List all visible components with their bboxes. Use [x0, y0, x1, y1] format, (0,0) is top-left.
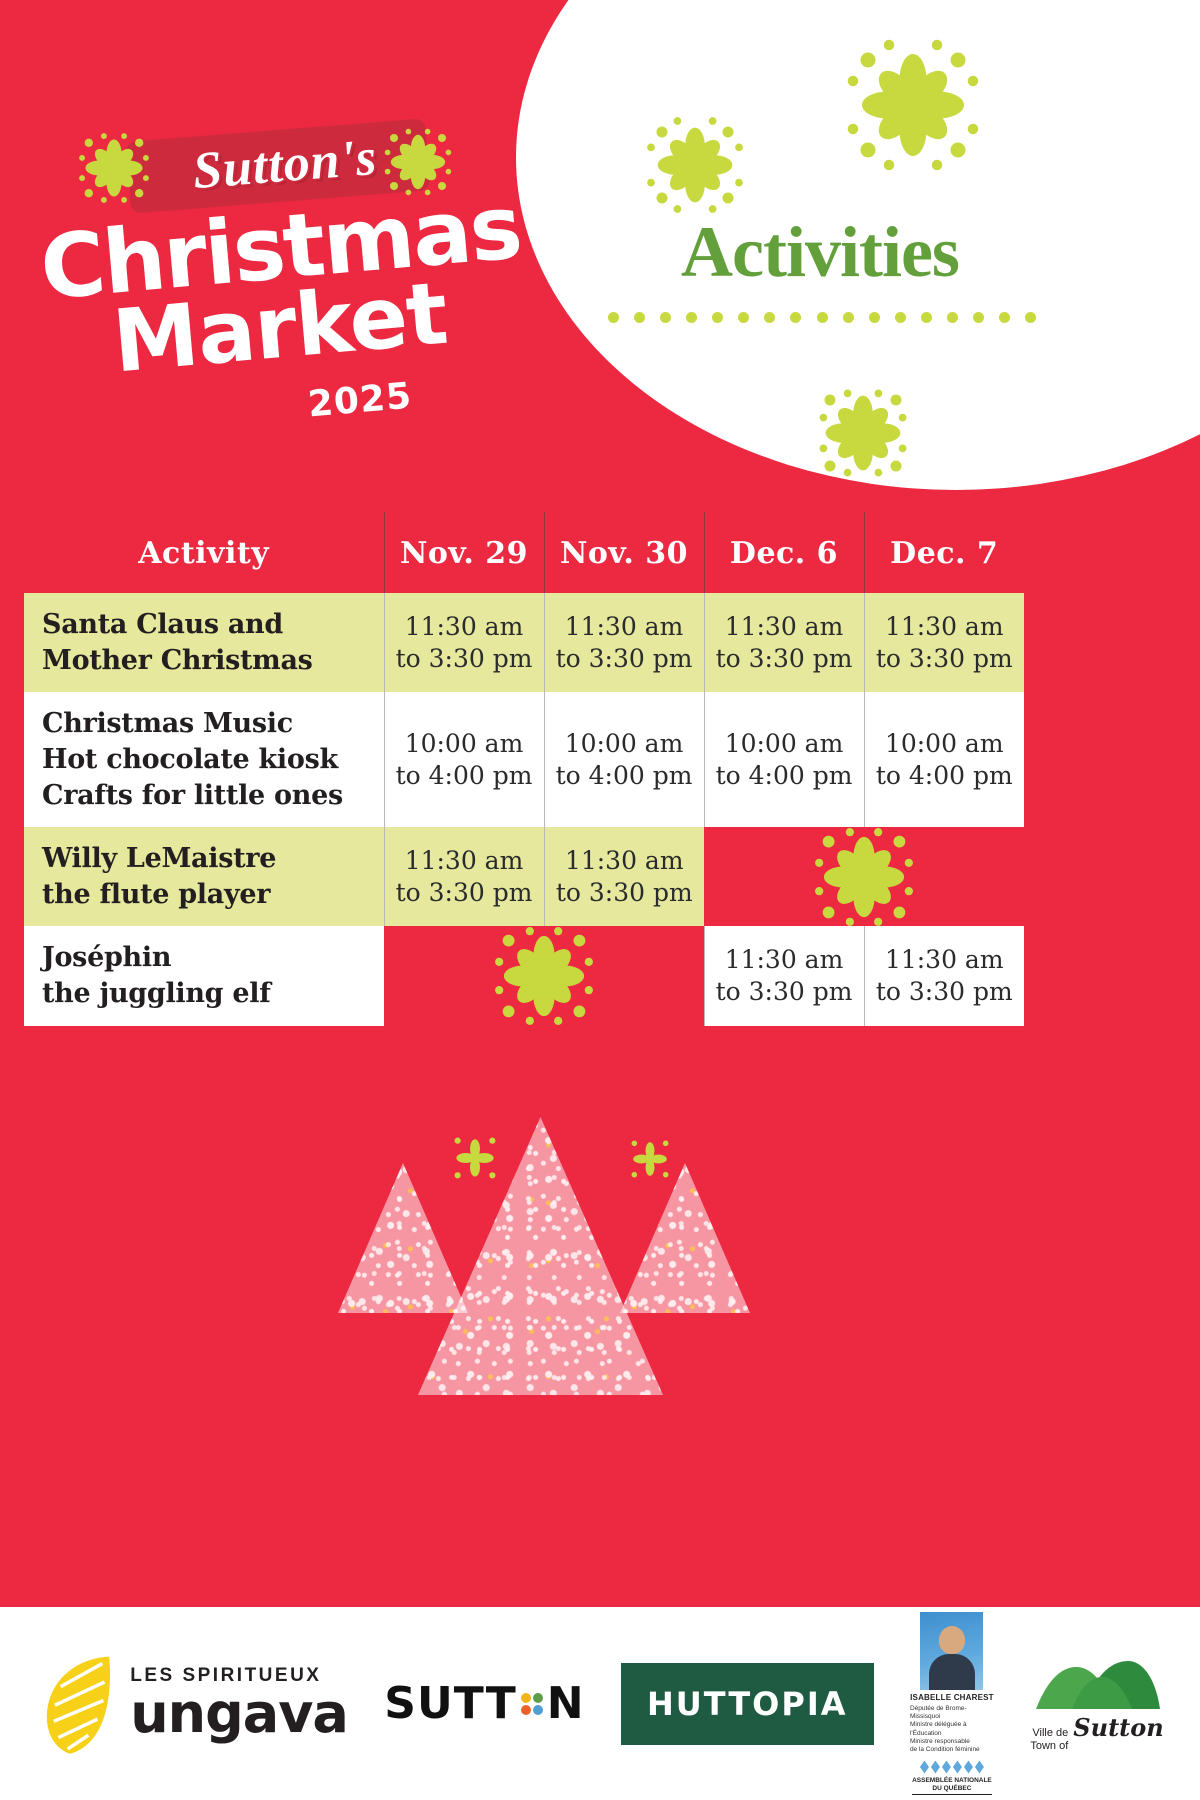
sutton-wordmark-tail: N	[547, 1678, 585, 1729]
schedule-cell: 11:30 am to 3:30 pm	[704, 593, 864, 692]
schedule-cell-empty	[384, 926, 704, 1025]
divider-dot	[608, 312, 619, 323]
ville-line1: Ville de	[1032, 1727, 1068, 1739]
divider-dot	[790, 312, 801, 323]
charest-name: ISABELLE CHAREST	[910, 1693, 994, 1702]
schedule-cell: 10:00 am to 4:00 pm	[544, 692, 704, 827]
assemblee-nationale-label: ASSEMBLÉE NATIONALE DU QUÉBEC	[912, 1777, 992, 1796]
time-start: 11:30 am	[873, 944, 1017, 976]
ungava-leaf-icon	[36, 1652, 120, 1756]
sponsor-logo-isabelle-charest[interactable]: ISABELLE CHAREST Députée de Brome-Missis…	[910, 1612, 994, 1796]
time-start: 10:00 am	[393, 728, 536, 760]
sponsor-logo-sutton[interactable]: SUTT N	[384, 1678, 584, 1729]
schedule-cell: 11:30 am to 3:30 pm	[544, 593, 704, 692]
snowflake-christmas-tree-icon	[418, 1117, 663, 1395]
divider-dot	[686, 312, 697, 323]
time-end: to 3:30 pm	[873, 643, 1017, 675]
time-start: 10:00 am	[553, 728, 696, 760]
schedule-cell: 11:30 am to 3:30 pm	[864, 926, 1024, 1025]
table-row: Christmas Music Hot chocolate kiosk Craf…	[24, 692, 1024, 827]
divider-dot	[764, 312, 775, 323]
time-start: 11:30 am	[713, 611, 856, 643]
charest-role-line: Ministre déléguée à l'Éducation	[910, 1721, 994, 1738]
time-end: to 4:00 pm	[553, 760, 696, 792]
ville-line2: Town of	[1030, 1740, 1068, 1752]
time-end: to 4:00 pm	[393, 760, 536, 792]
charest-roles: Députée de Brome-Missisquoi Ministre dél…	[910, 1705, 994, 1755]
divider-dot	[973, 312, 984, 323]
activity-line: Santa Claus and	[42, 607, 376, 643]
time-end: to 3:30 pm	[713, 976, 856, 1008]
charest-role-line: Ministre responsable	[910, 1738, 994, 1746]
sutton-hills-icon	[1032, 1655, 1162, 1711]
green-flower-burst-icon	[805, 818, 923, 936]
column-header-dec-6: Dec. 6	[704, 512, 864, 593]
activity-line: the juggling elf	[42, 976, 376, 1012]
sutton-o-quadrant-icon	[521, 1693, 543, 1715]
time-end: to 3:30 pm	[393, 643, 536, 675]
sponsor-logo-huttopia[interactable]: HUTTOPIA	[621, 1663, 873, 1745]
section-title-activities: Activities	[605, 216, 1035, 288]
column-header-nov-30: Nov. 30	[544, 512, 704, 593]
charest-role-line: Députée de Brome-Missisquoi	[910, 1705, 994, 1722]
activity-line: Hot chocolate kiosk	[42, 742, 376, 778]
time-end: to 3:30 pm	[393, 877, 536, 909]
ungava-wordmark: ungava	[130, 1687, 348, 1741]
time-start: 11:30 am	[713, 944, 856, 976]
poster-root: Activities	[0, 0, 1200, 1800]
activities-table: Activity Nov. 29 Nov. 30 Dec. 6 Dec. 7 S…	[24, 512, 1024, 1026]
activity-line: Mother Christmas	[42, 643, 376, 679]
schedule-cell: 11:30 am to 3:30 pm	[544, 827, 704, 926]
activity-name-cell: Joséphin the juggling elf	[24, 926, 384, 1025]
activity-line: the flute player	[42, 877, 376, 913]
schedule-cell: 10:00 am to 4:00 pm	[704, 692, 864, 827]
schedule-cell: 10:00 am to 4:00 pm	[384, 692, 544, 827]
schedule-cell: 11:30 am to 3:30 pm	[384, 827, 544, 926]
schedule-cell: 10:00 am to 4:00 pm	[864, 692, 1024, 827]
sponsor-footer: LES SPIRITUEUX ungava SUTT N HUTTOPIA	[0, 1607, 1200, 1800]
activity-name-cell: Christmas Music Hot chocolate kiosk Craf…	[24, 692, 384, 827]
activity-line: Willy LeMaistre	[42, 841, 376, 877]
charest-role-line: de la Condition féminine	[910, 1746, 994, 1754]
time-end: to 3:30 pm	[553, 643, 696, 675]
table-row: Santa Claus and Mother Christmas 11:30 a…	[24, 593, 1024, 692]
time-start: 10:00 am	[713, 728, 856, 760]
assemblee-line2: DU QUÉBEC	[912, 1785, 992, 1793]
activity-line: Crafts for little ones	[42, 778, 376, 814]
divider-dot	[817, 312, 828, 323]
christmas-trees-decoration	[330, 1105, 750, 1395]
schedule-cell: 11:30 am to 3:30 pm	[864, 593, 1024, 692]
divider-dot	[634, 312, 645, 323]
activity-line: Christmas Music	[42, 706, 376, 742]
divider-dot	[947, 312, 958, 323]
time-end: to 3:30 pm	[553, 877, 697, 909]
divider-dot	[999, 312, 1010, 323]
activity-name-cell: Santa Claus and Mother Christmas	[24, 593, 384, 692]
divider-dot	[843, 312, 854, 323]
title-year: 2025	[298, 375, 421, 426]
time-end: to 4:00 pm	[713, 760, 856, 792]
activity-name-cell: Willy LeMaistre the flute player	[24, 827, 384, 926]
assemblee-line1: ASSEMBLÉE NATIONALE	[912, 1777, 992, 1785]
table-header-row: Activity Nov. 29 Nov. 30 Dec. 6 Dec. 7	[24, 512, 1024, 593]
time-end: to 3:30 pm	[713, 643, 856, 675]
huttopia-wordmark: HUTTOPIA	[647, 1685, 847, 1723]
column-header-activity: Activity	[24, 512, 384, 593]
column-header-nov-29: Nov. 29	[384, 512, 544, 593]
column-header-dec-7: Dec. 7	[864, 512, 1024, 593]
green-flower-burst-icon	[485, 917, 603, 1035]
schedule-cell: 11:30 am to 3:30 pm	[384, 593, 544, 692]
divider-dot	[895, 312, 906, 323]
divider-dot	[712, 312, 723, 323]
table-row: Joséphin the juggling elf	[24, 926, 1024, 1025]
sponsor-logo-ungava[interactable]: LES SPIRITUEUX ungava	[36, 1652, 348, 1756]
time-start: 11:30 am	[873, 611, 1017, 643]
dot-divider	[608, 312, 1036, 323]
time-start: 10:00 am	[873, 728, 1017, 760]
table-row: Willy LeMaistre the flute player 11:30 a…	[24, 827, 1024, 926]
schedule-cell-empty	[704, 827, 1024, 926]
time-end: to 3:30 pm	[873, 976, 1017, 1008]
divider-dot	[1025, 312, 1036, 323]
schedule-cell: 11:30 am to 3:30 pm	[704, 926, 864, 1025]
activity-line: Joséphin	[42, 940, 376, 976]
sponsor-logo-ville-de-sutton[interactable]: Ville de Town of Sutton	[1030, 1655, 1163, 1752]
divider-dot	[738, 312, 749, 323]
time-start: 11:30 am	[553, 611, 696, 643]
time-start: 11:30 am	[553, 845, 697, 877]
ville-de-town-of-label: Ville de Town of	[1030, 1727, 1068, 1752]
ville-sutton-wordmark: Sutton	[1073, 1713, 1163, 1742]
divider-dot	[869, 312, 880, 323]
assemblee-diamonds-icon	[920, 1761, 984, 1774]
time-end: to 4:00 pm	[873, 760, 1017, 792]
divider-dot	[921, 312, 932, 323]
sutton-wordmark-head: SUTT	[384, 1678, 516, 1729]
time-start: 11:30 am	[393, 611, 536, 643]
portrait-photo	[920, 1612, 983, 1690]
schedule-section: Activity Nov. 29 Nov. 30 Dec. 6 Dec. 7 S…	[24, 512, 1024, 1026]
divider-dot	[660, 312, 671, 323]
time-start: 11:30 am	[393, 845, 536, 877]
